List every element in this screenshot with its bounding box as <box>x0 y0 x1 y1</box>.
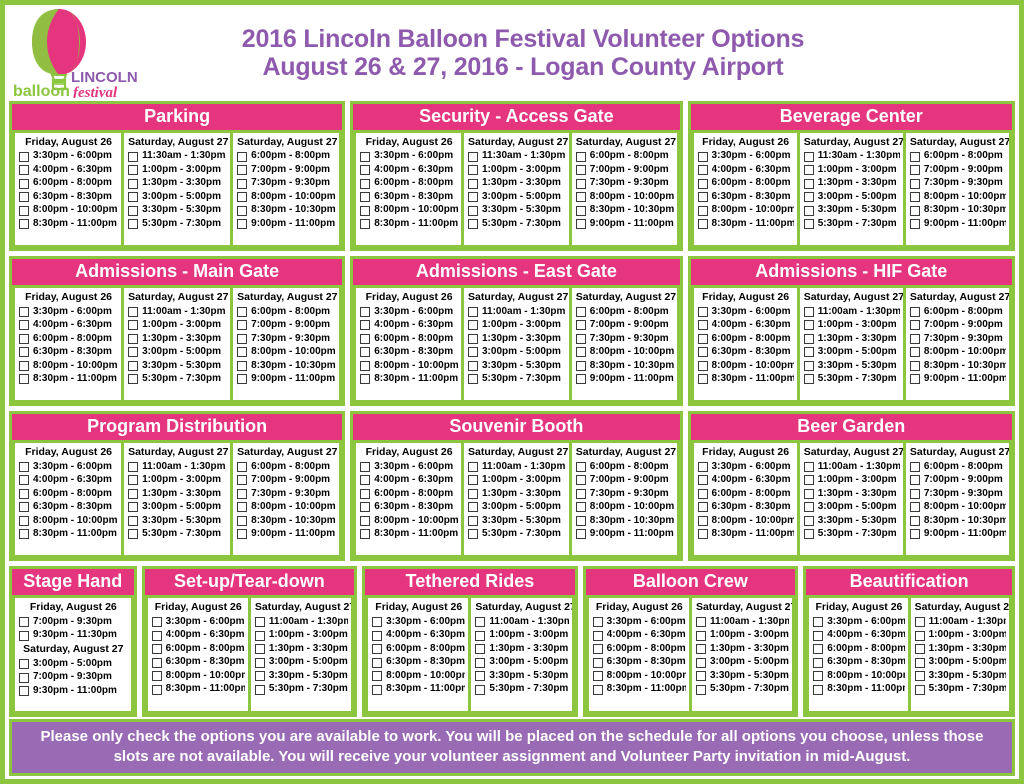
checkbox-icon[interactable] <box>468 502 478 512</box>
timeslot-option[interactable]: 3:30pm - 6:00pm <box>593 615 686 629</box>
checkbox-icon[interactable] <box>468 347 478 357</box>
checkbox-icon[interactable] <box>360 206 370 216</box>
timeslot-option[interactable]: 5:30pm - 7:30pm <box>804 373 900 387</box>
timeslot-option[interactable]: 6:30pm - 8:30pm <box>19 501 118 515</box>
checkbox-icon[interactable] <box>237 489 247 499</box>
checkbox-icon[interactable] <box>237 165 247 175</box>
checkbox-icon[interactable] <box>698 462 708 472</box>
timeslot-option[interactable]: 6:30pm - 8:30pm <box>698 346 794 360</box>
checkbox-icon[interactable] <box>698 529 708 539</box>
checkbox-icon[interactable] <box>576 529 586 539</box>
timeslot-option[interactable]: 3:30pm - 6:00pm <box>152 615 245 629</box>
checkbox-icon[interactable] <box>128 152 138 162</box>
timeslot-option[interactable]: 11:30am - 1:30pm <box>128 150 227 164</box>
timeslot-option[interactable]: 6:00pm - 8:00pm <box>19 177 118 191</box>
timeslot-option[interactable]: 8:00pm - 10:00pm <box>698 514 794 528</box>
checkbox-icon[interactable] <box>128 374 138 384</box>
checkbox-icon[interactable] <box>804 206 814 216</box>
timeslot-option[interactable]: 7:30pm - 9:30pm <box>237 177 336 191</box>
checkbox-icon[interactable] <box>698 165 708 175</box>
checkbox-icon[interactable] <box>593 658 603 668</box>
timeslot-option[interactable]: 4:00pm - 6:30pm <box>19 319 118 333</box>
checkbox-icon[interactable] <box>698 516 708 526</box>
checkbox-icon[interactable] <box>804 347 814 357</box>
checkbox-icon[interactable] <box>468 361 478 371</box>
timeslot-option[interactable]: 6:00pm - 8:00pm <box>360 487 458 501</box>
checkbox-icon[interactable] <box>372 685 382 695</box>
timeslot-option[interactable]: 4:00pm - 6:30pm <box>19 474 118 488</box>
timeslot-option[interactable]: 1:30pm - 3:30pm <box>475 642 568 656</box>
timeslot-option[interactable]: 3:30pm - 6:00pm <box>360 150 458 164</box>
checkbox-icon[interactable] <box>910 219 920 229</box>
checkbox-icon[interactable] <box>698 320 708 330</box>
checkbox-icon[interactable] <box>237 462 247 472</box>
checkbox-icon[interactable] <box>372 644 382 654</box>
timeslot-option[interactable]: 5:30pm - 7:30pm <box>804 528 900 542</box>
timeslot-option[interactable]: 1:00pm - 3:00pm <box>128 319 227 333</box>
checkbox-icon[interactable] <box>19 206 29 216</box>
timeslot-option[interactable]: 8:30pm - 11:00pm <box>698 373 794 387</box>
timeslot-option[interactable]: 3:00pm - 5:00pm <box>475 656 568 670</box>
timeslot-option[interactable]: 6:30pm - 8:30pm <box>698 190 794 204</box>
checkbox-icon[interactable] <box>468 206 478 216</box>
checkbox-icon[interactable] <box>475 685 485 695</box>
checkbox-icon[interactable] <box>128 529 138 539</box>
checkbox-icon[interactable] <box>360 219 370 229</box>
checkbox-icon[interactable] <box>19 179 29 189</box>
timeslot-option[interactable]: 3:30pm - 6:00pm <box>360 460 458 474</box>
timeslot-option[interactable]: 1:00pm - 3:00pm <box>128 163 227 177</box>
checkbox-icon[interactable] <box>468 462 478 472</box>
timeslot-option[interactable]: 8:30pm - 11:00pm <box>372 683 465 697</box>
checkbox-icon[interactable] <box>468 179 478 189</box>
timeslot-option[interactable]: 8:30pm - 11:00pm <box>19 373 118 387</box>
checkbox-icon[interactable] <box>915 644 925 654</box>
checkbox-icon[interactable] <box>593 644 603 654</box>
checkbox-icon[interactable] <box>19 347 29 357</box>
timeslot-option[interactable]: 3:00pm - 5:00pm <box>128 190 227 204</box>
checkbox-icon[interactable] <box>128 219 138 229</box>
timeslot-option[interactable]: 4:00pm - 6:30pm <box>19 163 118 177</box>
checkbox-icon[interactable] <box>475 617 485 627</box>
checkbox-icon[interactable] <box>19 489 29 499</box>
checkbox-icon[interactable] <box>593 617 603 627</box>
timeslot-option[interactable]: 3:30pm - 5:30pm <box>475 669 568 683</box>
checkbox-icon[interactable] <box>468 307 478 317</box>
checkbox-icon[interactable] <box>468 475 478 485</box>
checkbox-icon[interactable] <box>804 334 814 344</box>
timeslot-option[interactable]: 3:30pm - 6:00pm <box>813 615 904 629</box>
checkbox-icon[interactable] <box>576 206 586 216</box>
timeslot-option[interactable]: 6:00pm - 8:00pm <box>813 642 904 656</box>
timeslot-option[interactable]: 6:30pm - 8:30pm <box>19 346 118 360</box>
timeslot-option[interactable]: 8:00pm - 10:00pm <box>576 501 674 515</box>
checkbox-icon[interactable] <box>804 192 814 202</box>
timeslot-option[interactable]: 3:30pm - 6:00pm <box>19 460 118 474</box>
checkbox-icon[interactable] <box>19 152 29 162</box>
checkbox-icon[interactable] <box>576 516 586 526</box>
checkbox-icon[interactable] <box>372 631 382 641</box>
timeslot-option[interactable]: 11:00am - 1:30pm <box>128 460 227 474</box>
checkbox-icon[interactable] <box>593 631 603 641</box>
timeslot-option[interactable]: 6:00pm - 8:00pm <box>152 642 245 656</box>
checkbox-icon[interactable] <box>128 165 138 175</box>
checkbox-icon[interactable] <box>237 516 247 526</box>
checkbox-icon[interactable] <box>698 179 708 189</box>
checkbox-icon[interactable] <box>468 529 478 539</box>
checkbox-icon[interactable] <box>804 462 814 472</box>
checkbox-icon[interactable] <box>576 192 586 202</box>
checkbox-icon[interactable] <box>813 671 823 681</box>
timeslot-option[interactable]: 6:30pm - 8:30pm <box>19 190 118 204</box>
checkbox-icon[interactable] <box>360 374 370 384</box>
timeslot-option[interactable]: 8:00pm - 10:00pm <box>152 669 245 683</box>
timeslot-option[interactable]: 6:30pm - 8:30pm <box>360 346 458 360</box>
checkbox-icon[interactable] <box>360 165 370 175</box>
checkbox-icon[interactable] <box>576 165 586 175</box>
timeslot-option[interactable]: 3:00pm - 5:00pm <box>696 656 789 670</box>
timeslot-option[interactable]: 3:30pm - 5:30pm <box>128 514 227 528</box>
checkbox-icon[interactable] <box>915 658 925 668</box>
timeslot-option[interactable]: 6:00pm - 8:00pm <box>19 487 118 501</box>
checkbox-icon[interactable] <box>468 320 478 330</box>
checkbox-icon[interactable] <box>19 502 29 512</box>
checkbox-icon[interactable] <box>360 179 370 189</box>
timeslot-option[interactable]: 5:30pm - 7:30pm <box>804 217 900 231</box>
checkbox-icon[interactable] <box>910 502 920 512</box>
timeslot-option[interactable]: 6:00pm - 8:00pm <box>910 305 1006 319</box>
timeslot-option[interactable]: 6:30pm - 8:30pm <box>360 190 458 204</box>
checkbox-icon[interactable] <box>698 374 708 384</box>
timeslot-option[interactable]: 1:30pm - 3:30pm <box>128 332 227 346</box>
checkbox-icon[interactable] <box>698 361 708 371</box>
checkbox-icon[interactable] <box>468 219 478 229</box>
timeslot-option[interactable]: 1:00pm - 3:00pm <box>915 629 1006 643</box>
timeslot-option[interactable]: 4:00pm - 6:30pm <box>360 474 458 488</box>
checkbox-icon[interactable] <box>475 644 485 654</box>
timeslot-option[interactable]: 9:00pm - 11:00pm <box>576 528 674 542</box>
checkbox-icon[interactable] <box>128 334 138 344</box>
timeslot-option[interactable]: 8:30pm - 11:00pm <box>360 528 458 542</box>
checkbox-icon[interactable] <box>468 152 478 162</box>
checkbox-icon[interactable] <box>576 502 586 512</box>
timeslot-option[interactable]: 5:30pm - 7:30pm <box>468 217 566 231</box>
checkbox-icon[interactable] <box>19 631 29 641</box>
timeslot-option[interactable]: 7:00pm - 9:00pm <box>910 319 1006 333</box>
checkbox-icon[interactable] <box>698 152 708 162</box>
timeslot-option[interactable]: 8:00pm - 10:00pm <box>19 359 118 373</box>
timeslot-option[interactable]: 6:30pm - 8:30pm <box>372 656 465 670</box>
timeslot-option[interactable]: 3:30pm - 5:30pm <box>468 514 566 528</box>
checkbox-icon[interactable] <box>128 502 138 512</box>
checkbox-icon[interactable] <box>468 165 478 175</box>
timeslot-option[interactable]: 11:00am - 1:30pm <box>128 305 227 319</box>
timeslot-option[interactable]: 8:00pm - 10:00pm <box>698 204 794 218</box>
timeslot-option[interactable]: 11:00am - 1:30pm <box>804 460 900 474</box>
checkbox-icon[interactable] <box>19 516 29 526</box>
timeslot-option[interactable]: 8:30pm - 11:00pm <box>698 217 794 231</box>
checkbox-icon[interactable] <box>372 671 382 681</box>
checkbox-icon[interactable] <box>576 475 586 485</box>
timeslot-option[interactable]: 3:00pm - 5:00pm <box>804 190 900 204</box>
timeslot-option[interactable]: 7:00pm - 9:00pm <box>237 474 336 488</box>
timeslot-option[interactable]: 6:30pm - 8:30pm <box>698 501 794 515</box>
timeslot-option[interactable]: 4:00pm - 6:30pm <box>813 629 904 643</box>
timeslot-option[interactable]: 5:30pm - 7:30pm <box>468 528 566 542</box>
checkbox-icon[interactable] <box>128 361 138 371</box>
checkbox-icon[interactable] <box>910 516 920 526</box>
checkbox-icon[interactable] <box>813 685 823 695</box>
timeslot-option[interactable]: 5:30pm - 7:30pm <box>915 683 1006 697</box>
timeslot-option[interactable]: 7:30pm - 9:30pm <box>910 332 1006 346</box>
timeslot-option[interactable]: 9:00pm - 11:00pm <box>237 373 336 387</box>
checkbox-icon[interactable] <box>910 475 920 485</box>
checkbox-icon[interactable] <box>360 361 370 371</box>
timeslot-option[interactable]: 3:30pm - 6:00pm <box>698 150 794 164</box>
timeslot-option[interactable]: 3:30pm - 5:30pm <box>468 359 566 373</box>
timeslot-option[interactable]: 8:30pm - 11:00pm <box>360 217 458 231</box>
timeslot-option[interactable]: 11:00am - 1:30pm <box>468 305 566 319</box>
timeslot-option[interactable]: 8:30pm - 11:00pm <box>19 528 118 542</box>
checkbox-icon[interactable] <box>475 631 485 641</box>
checkbox-icon[interactable] <box>19 462 29 472</box>
checkbox-icon[interactable] <box>910 489 920 499</box>
checkbox-icon[interactable] <box>19 475 29 485</box>
timeslot-option[interactable]: 8:00pm - 10:00pm <box>698 359 794 373</box>
timeslot-option[interactable]: 3:00pm - 5:00pm <box>468 501 566 515</box>
checkbox-icon[interactable] <box>915 671 925 681</box>
timeslot-option[interactable]: 5:30pm - 7:30pm <box>128 373 227 387</box>
timeslot-option[interactable]: 6:00pm - 8:00pm <box>372 642 465 656</box>
timeslot-option[interactable]: 3:30pm - 5:30pm <box>804 514 900 528</box>
checkbox-icon[interactable] <box>593 685 603 695</box>
checkbox-icon[interactable] <box>910 374 920 384</box>
checkbox-icon[interactable] <box>255 671 265 681</box>
timeslot-option[interactable]: 8:00pm - 10:00pm <box>576 190 674 204</box>
timeslot-option[interactable]: 3:30pm - 5:30pm <box>128 359 227 373</box>
timeslot-option[interactable]: 1:00pm - 3:00pm <box>255 629 348 643</box>
timeslot-option[interactable]: 8:00pm - 10:00pm <box>576 346 674 360</box>
checkbox-icon[interactable] <box>475 658 485 668</box>
checkbox-icon[interactable] <box>152 671 162 681</box>
timeslot-option[interactable]: 8:30pm - 10:30pm <box>910 359 1006 373</box>
checkbox-icon[interactable] <box>128 475 138 485</box>
checkbox-icon[interactable] <box>696 671 706 681</box>
checkbox-icon[interactable] <box>696 658 706 668</box>
checkbox-icon[interactable] <box>576 374 586 384</box>
timeslot-option[interactable]: 5:30pm - 7:30pm <box>255 683 348 697</box>
timeslot-option[interactable]: 7:00pm - 9:00pm <box>910 163 1006 177</box>
timeslot-option[interactable]: 8:30pm - 11:00pm <box>360 373 458 387</box>
timeslot-option[interactable]: 8:00pm - 10:00pm <box>910 346 1006 360</box>
timeslot-option[interactable]: 6:00pm - 8:00pm <box>910 460 1006 474</box>
timeslot-option[interactable]: 7:00pm - 9:00pm <box>576 319 674 333</box>
checkbox-icon[interactable] <box>804 165 814 175</box>
timeslot-option[interactable]: 6:00pm - 8:00pm <box>237 460 336 474</box>
timeslot-option[interactable]: 3:30pm - 6:00pm <box>698 460 794 474</box>
checkbox-icon[interactable] <box>576 347 586 357</box>
timeslot-option[interactable]: 3:00pm - 5:00pm <box>804 501 900 515</box>
timeslot-option[interactable]: 6:00pm - 8:00pm <box>698 177 794 191</box>
timeslot-option[interactable]: 3:30pm - 5:30pm <box>915 669 1006 683</box>
timeslot-option[interactable]: 6:00pm - 8:00pm <box>910 150 1006 164</box>
timeslot-option[interactable]: 7:30pm - 9:30pm <box>576 332 674 346</box>
timeslot-option[interactable]: 7:00pm - 9:00pm <box>237 163 336 177</box>
checkbox-icon[interactable] <box>576 219 586 229</box>
timeslot-option[interactable]: 5:30pm - 7:30pm <box>696 683 789 697</box>
timeslot-option[interactable]: 6:00pm - 8:00pm <box>360 332 458 346</box>
timeslot-option[interactable]: 8:30pm - 10:30pm <box>910 514 1006 528</box>
timeslot-option[interactable]: 3:30pm - 5:30pm <box>255 669 348 683</box>
checkbox-icon[interactable] <box>19 673 29 683</box>
checkbox-icon[interactable] <box>128 347 138 357</box>
checkbox-icon[interactable] <box>255 685 265 695</box>
checkbox-icon[interactable] <box>696 644 706 654</box>
checkbox-icon[interactable] <box>237 192 247 202</box>
timeslot-option[interactable]: 1:00pm - 3:00pm <box>468 319 566 333</box>
timeslot-option[interactable]: 1:00pm - 3:00pm <box>804 163 900 177</box>
timeslot-option[interactable]: 1:30pm - 3:30pm <box>468 487 566 501</box>
timeslot-option[interactable]: 8:00pm - 10:00pm <box>360 514 458 528</box>
timeslot-option[interactable]: 8:30pm - 10:30pm <box>237 204 336 218</box>
checkbox-icon[interactable] <box>576 179 586 189</box>
checkbox-icon[interactable] <box>237 307 247 317</box>
timeslot-option[interactable]: 6:00pm - 8:00pm <box>237 305 336 319</box>
checkbox-icon[interactable] <box>128 192 138 202</box>
timeslot-option[interactable]: 9:00pm - 11:00pm <box>237 217 336 231</box>
timeslot-option[interactable]: 5:30pm - 7:30pm <box>128 217 227 231</box>
timeslot-option[interactable]: 6:00pm - 8:00pm <box>19 332 118 346</box>
timeslot-option[interactable]: 8:00pm - 10:00pm <box>593 669 686 683</box>
timeslot-option[interactable]: 8:00pm - 10:00pm <box>19 204 118 218</box>
checkbox-icon[interactable] <box>576 361 586 371</box>
timeslot-option[interactable]: 7:30pm - 9:30pm <box>576 487 674 501</box>
checkbox-icon[interactable] <box>128 307 138 317</box>
timeslot-option[interactable]: 3:30pm - 5:30pm <box>128 204 227 218</box>
timeslot-option[interactable]: 1:30pm - 3:30pm <box>128 177 227 191</box>
timeslot-option[interactable]: 4:00pm - 6:30pm <box>593 629 686 643</box>
checkbox-icon[interactable] <box>915 617 925 627</box>
timeslot-option[interactable]: 1:30pm - 3:30pm <box>804 332 900 346</box>
checkbox-icon[interactable] <box>237 219 247 229</box>
timeslot-option[interactable]: 7:00pm - 9:00pm <box>237 319 336 333</box>
checkbox-icon[interactable] <box>576 320 586 330</box>
timeslot-option[interactable]: 8:30pm - 11:00pm <box>593 683 686 697</box>
checkbox-icon[interactable] <box>372 658 382 668</box>
checkbox-icon[interactable] <box>360 462 370 472</box>
timeslot-option[interactable]: 8:30pm - 10:30pm <box>576 359 674 373</box>
checkbox-icon[interactable] <box>19 320 29 330</box>
checkbox-icon[interactable] <box>698 489 708 499</box>
checkbox-icon[interactable] <box>237 152 247 162</box>
timeslot-option[interactable]: 1:30pm - 3:30pm <box>804 487 900 501</box>
checkbox-icon[interactable] <box>910 529 920 539</box>
timeslot-option[interactable]: 7:30pm - 9:30pm <box>237 332 336 346</box>
checkbox-icon[interactable] <box>813 631 823 641</box>
timeslot-option[interactable]: 7:30pm - 9:30pm <box>237 487 336 501</box>
timeslot-option[interactable]: 8:30pm - 10:30pm <box>237 359 336 373</box>
checkbox-icon[interactable] <box>804 489 814 499</box>
checkbox-icon[interactable] <box>19 374 29 384</box>
checkbox-icon[interactable] <box>475 671 485 681</box>
timeslot-option[interactable]: 11:00am - 1:30pm <box>468 460 566 474</box>
checkbox-icon[interactable] <box>360 475 370 485</box>
checkbox-icon[interactable] <box>910 206 920 216</box>
checkbox-icon[interactable] <box>19 686 29 696</box>
timeslot-option[interactable]: 4:00pm - 6:30pm <box>152 629 245 643</box>
timeslot-option[interactable]: 11:00am - 1:30pm <box>915 615 1006 629</box>
checkbox-icon[interactable] <box>128 516 138 526</box>
timeslot-option[interactable]: 1:00pm - 3:00pm <box>475 629 568 643</box>
checkbox-icon[interactable] <box>698 192 708 202</box>
timeslot-option[interactable]: 11:00am - 1:30pm <box>475 615 568 629</box>
checkbox-icon[interactable] <box>696 617 706 627</box>
checkbox-icon[interactable] <box>128 179 138 189</box>
checkbox-icon[interactable] <box>19 334 29 344</box>
checkbox-icon[interactable] <box>698 502 708 512</box>
checkbox-icon[interactable] <box>360 192 370 202</box>
timeslot-option[interactable]: 8:30pm - 11:00pm <box>152 683 245 697</box>
checkbox-icon[interactable] <box>910 320 920 330</box>
checkbox-icon[interactable] <box>255 658 265 668</box>
checkbox-icon[interactable] <box>698 334 708 344</box>
checkbox-icon[interactable] <box>813 617 823 627</box>
checkbox-icon[interactable] <box>237 334 247 344</box>
checkbox-icon[interactable] <box>468 516 478 526</box>
timeslot-option[interactable]: 9:00pm - 11:00pm <box>576 217 674 231</box>
timeslot-option[interactable]: 8:00pm - 10:00pm <box>372 669 465 683</box>
checkbox-icon[interactable] <box>804 502 814 512</box>
timeslot-option[interactable]: 11:30am - 1:30pm <box>804 150 900 164</box>
timeslot-option[interactable]: 8:30pm - 11:00pm <box>813 683 904 697</box>
timeslot-option[interactable]: 9:00pm - 11:00pm <box>237 528 336 542</box>
timeslot-option[interactable]: 1:00pm - 3:00pm <box>696 629 789 643</box>
checkbox-icon[interactable] <box>360 307 370 317</box>
timeslot-option[interactable]: 7:30pm - 9:30pm <box>910 177 1006 191</box>
timeslot-option[interactable]: 3:00pm - 5:00pm <box>128 346 227 360</box>
timeslot-option[interactable]: 11:00am - 1:30pm <box>696 615 789 629</box>
timeslot-option[interactable]: 1:30pm - 3:30pm <box>804 177 900 191</box>
checkbox-icon[interactable] <box>813 658 823 668</box>
checkbox-icon[interactable] <box>19 219 29 229</box>
timeslot-option[interactable]: 1:30pm - 3:30pm <box>255 642 348 656</box>
checkbox-icon[interactable] <box>915 631 925 641</box>
checkbox-icon[interactable] <box>804 529 814 539</box>
checkbox-icon[interactable] <box>152 631 162 641</box>
timeslot-option[interactable]: 8:00pm - 10:00pm <box>813 669 904 683</box>
timeslot-option[interactable]: 7:00pm - 9:30pm <box>19 671 128 685</box>
checkbox-icon[interactable] <box>576 462 586 472</box>
checkbox-icon[interactable] <box>372 617 382 627</box>
checkbox-icon[interactable] <box>152 658 162 668</box>
checkbox-icon[interactable] <box>698 307 708 317</box>
timeslot-option[interactable]: 11:00am - 1:30pm <box>255 615 348 629</box>
checkbox-icon[interactable] <box>360 347 370 357</box>
timeslot-option[interactable]: 4:00pm - 6:30pm <box>360 163 458 177</box>
checkbox-icon[interactable] <box>910 347 920 357</box>
checkbox-icon[interactable] <box>804 516 814 526</box>
timeslot-option[interactable]: 4:00pm - 6:30pm <box>698 163 794 177</box>
timeslot-option[interactable]: 8:00pm - 10:00pm <box>910 501 1006 515</box>
checkbox-icon[interactable] <box>804 374 814 384</box>
timeslot-option[interactable]: 5:30pm - 7:30pm <box>468 373 566 387</box>
timeslot-option[interactable]: 1:30pm - 3:30pm <box>128 487 227 501</box>
checkbox-icon[interactable] <box>237 361 247 371</box>
timeslot-option[interactable]: 3:30pm - 5:30pm <box>804 204 900 218</box>
checkbox-icon[interactable] <box>19 361 29 371</box>
checkbox-icon[interactable] <box>19 165 29 175</box>
timeslot-option[interactable]: 8:30pm - 10:30pm <box>237 514 336 528</box>
